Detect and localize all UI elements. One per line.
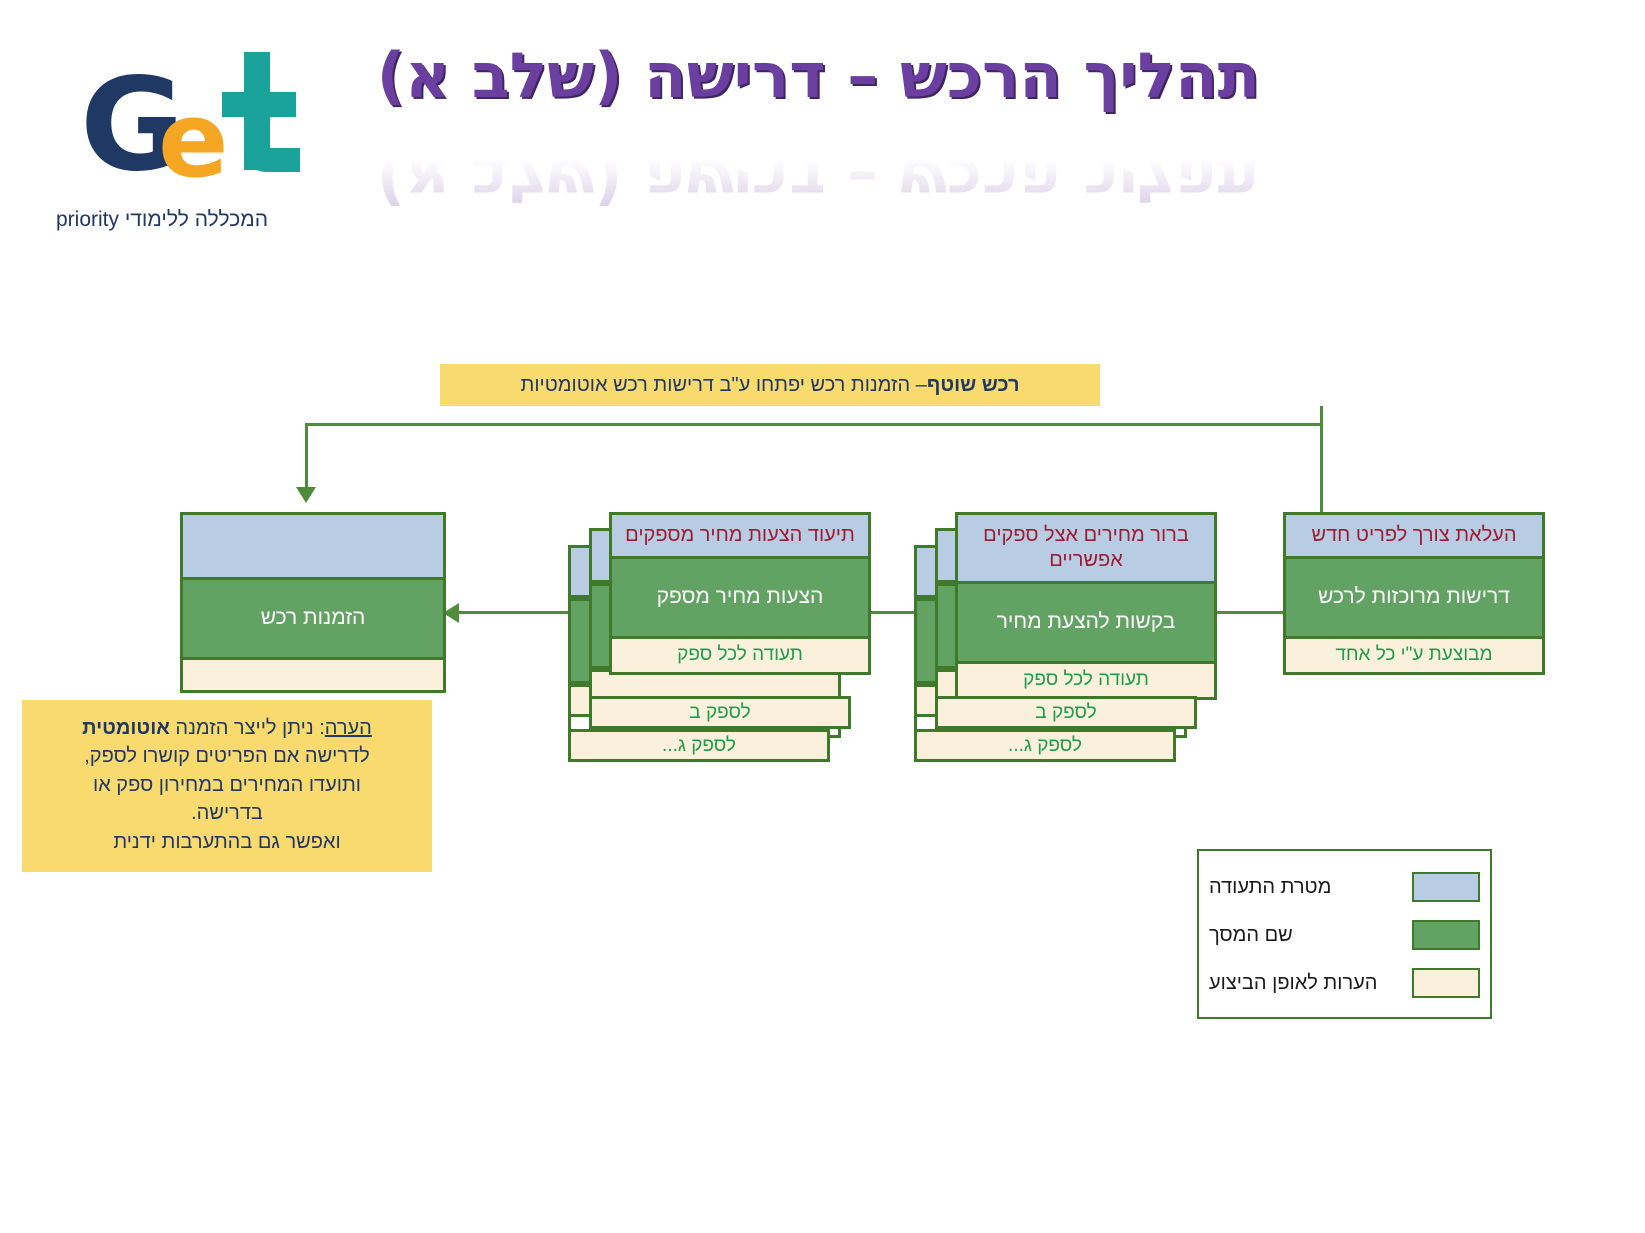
card-price-request-supplier-b-label: לספק ב: [1035, 703, 1096, 722]
legend-label-execution-notes: הערות לאופן הביצוע: [1209, 972, 1398, 995]
card-price-offer-supplier-c[interactable]: לספק ג...: [568, 729, 830, 762]
legend: מטרת התעודה שם המסך הערות לאופן הביצוע: [1197, 849, 1492, 1019]
card-new-item-note: מבוצעת ע"י כל אחד: [1286, 636, 1542, 672]
automation-note-line-2: לדרישה אם הפריטים קושרו לספק,: [38, 742, 416, 770]
logo-tagline-he: המכללה ללימודי: [125, 208, 268, 231]
logo-mark: G e: [72, 40, 302, 190]
automation-note-line-4: בדרישה.: [38, 799, 416, 827]
card-price-offer-supplier-c-label: לספק ג...: [662, 736, 736, 755]
legend-swatch-blue: [1412, 872, 1480, 902]
card-price-offer-screen: הצעות מחיר מספק: [612, 556, 868, 636]
card-purchase-order-header: [183, 515, 443, 577]
logo-letter-t-crossbar: [222, 92, 296, 117]
arrow-down-to-purchase-order: [296, 487, 316, 503]
card-price-request-supplier-c[interactable]: לספק ג...: [914, 729, 1176, 762]
card-price-request-note: תעודה לכל ספק: [958, 661, 1214, 697]
get-priority-logo: G e המכללה ללימודי priority: [42, 40, 302, 240]
card-price-request-screen: בקשות להצעת מחיר: [958, 581, 1214, 661]
card-price-request-supplier-c-label: לספק ג...: [1008, 736, 1082, 755]
card-new-item-header: העלאת צורך לפריט חדש: [1286, 515, 1542, 556]
automation-note-line1a: : ניתן לייצר הזמנה: [170, 717, 325, 739]
card-price-offer-note: תעודה לכל ספק: [612, 636, 868, 672]
automation-note-line-3: ותועדו המחירים במחירון ספק או: [38, 771, 416, 799]
legend-swatch-cream: [1412, 968, 1480, 998]
connector-right-down-to-card: [1320, 423, 1323, 513]
page-title: תהליך הרכש – דרישה (שלב א): [377, 40, 1260, 111]
legend-label-document-purpose: מטרת התעודה: [1209, 876, 1398, 899]
card-price-offer-header: תיעוד הצעות מחיר מספקים: [612, 515, 868, 556]
legend-label-screen-name: שם המסך: [1209, 924, 1398, 947]
card-price-request-header: ברור מחירים אצל ספקים אפשריים: [958, 515, 1214, 581]
automation-note-box: הערה: ניתן לייצר הזמנה אוטומטית לדרישה א…: [22, 700, 432, 872]
connector-top-left-vertical: [305, 423, 308, 489]
legend-swatch-green: [1412, 920, 1480, 950]
card-price-offer-supplier-b[interactable]: לספק ב: [589, 696, 851, 729]
slide-title-block: תהליך הרכש – דרישה (שלב א) תהליך הרכש – …: [300, 40, 1260, 170]
card-price-request-supplier-b[interactable]: לספק ב: [935, 696, 1197, 729]
flow-banner: רכש שוטף – הזמנות רכש יפתחו ע"ב דרישות ר…: [440, 364, 1100, 406]
automation-note-line-1: הערה: ניתן לייצר הזמנה אוטומטית: [38, 714, 416, 742]
connector-top-horizontal: [305, 423, 1323, 426]
legend-row-screen-name: שם המסך: [1209, 911, 1480, 959]
logo-tagline-en: priority: [56, 208, 119, 231]
automation-note-line-5: ואפשר גם בהתערבות ידנית: [38, 828, 416, 856]
card-purchase-order-screen: הזמנות רכש: [183, 577, 443, 657]
automation-note-label: הערה: [325, 717, 372, 739]
flow-banner-text: – הזמנות רכש יפתחו ע"ב דרישות רכש אוטומט…: [521, 374, 927, 397]
card-price-request[interactable]: ברור מחירים אצל ספקים אפשריים בקשות להצע…: [955, 512, 1217, 700]
slide-canvas: G e המכללה ללימודי priority תהליך הרכש –…: [0, 0, 1645, 1233]
logo-letter-e: e: [158, 88, 229, 192]
card-new-item-screen: דרישות מרוכזות לרכש: [1286, 556, 1542, 636]
card-purchase-order[interactable]: הזמנות רכש: [180, 512, 446, 693]
flow-banner-bold: רכש שוטף: [927, 374, 1020, 397]
card-price-offer-supplier-b-label: לספק ב: [689, 703, 750, 722]
page-title-reflection: תהליך הרכש – דרישה (שלב א): [377, 144, 1260, 215]
card-price-offer[interactable]: תיעוד הצעות מחיר מספקים הצעות מחיר מספק …: [609, 512, 871, 675]
card-purchase-order-note: [183, 657, 443, 690]
card-new-item[interactable]: העלאת צורך לפריט חדש דרישות מרוכזות לרכש…: [1283, 512, 1545, 675]
automation-note-line1b: אוטומטית: [82, 717, 170, 739]
legend-row-execution-notes: הערות לאופן הביצוע: [1209, 959, 1480, 1007]
logo-tagline: המכללה ללימודי priority: [42, 208, 282, 232]
legend-row-document-purpose: מטרת התעודה: [1209, 863, 1480, 911]
